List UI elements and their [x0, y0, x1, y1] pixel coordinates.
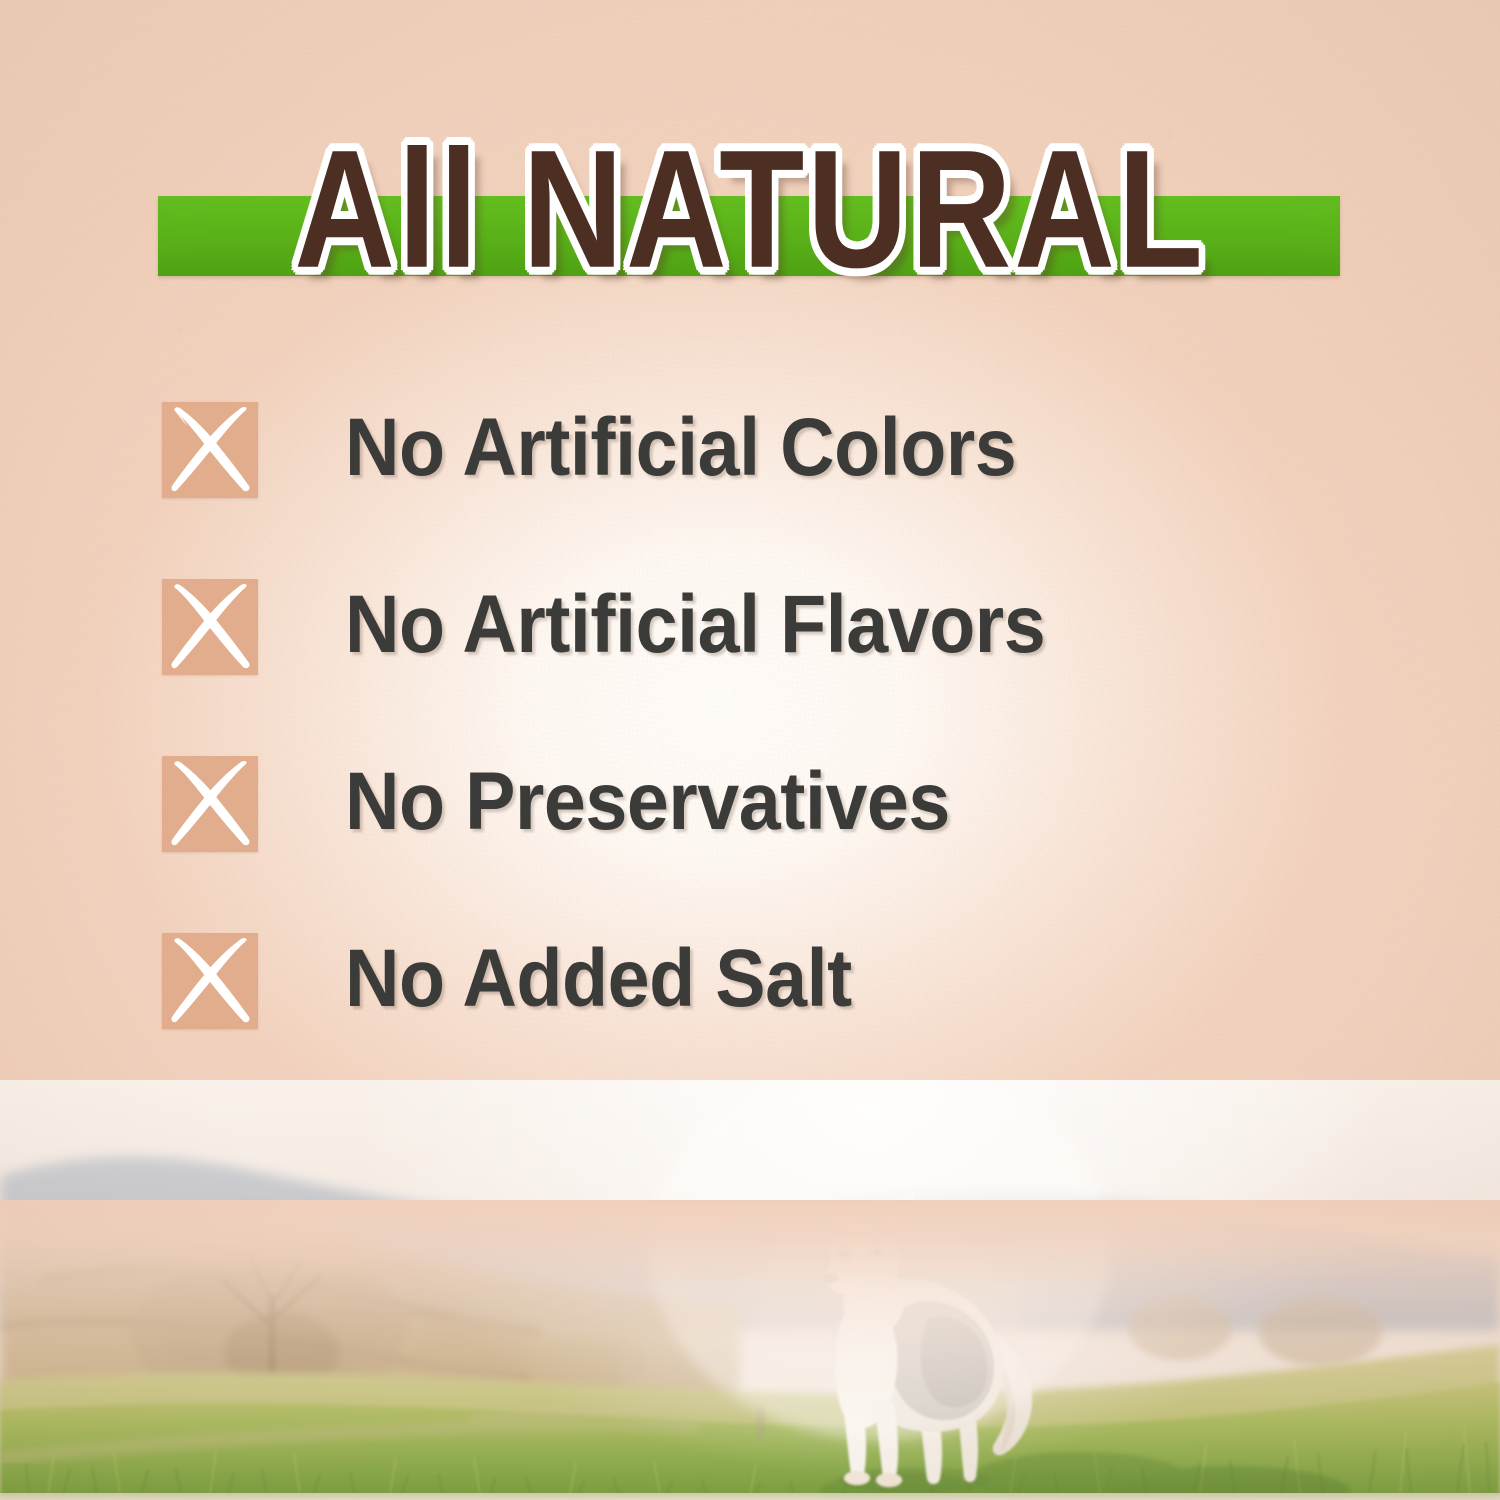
- list-item-label: No Preservatives: [345, 752, 950, 852]
- bottom-edge-strip: [0, 1493, 1500, 1500]
- list-item: No Artificial Flavors: [0, 549, 1500, 726]
- list-item: No Added Salt: [0, 903, 1500, 1080]
- list-item: No Artificial Colors: [0, 372, 1500, 549]
- poster-canvas: All NATURAL No Artificial Colors No Arti…: [0, 0, 1500, 1500]
- list-item-label: No Artificial Flavors: [345, 575, 1045, 675]
- landscape-dog-photo: [0, 1080, 1500, 1500]
- list-item-label: No Artificial Colors: [345, 398, 1016, 498]
- brush-stroke-x-icon: [162, 933, 258, 1029]
- feature-list: No Artificial Colors No Artificial Flavo…: [0, 372, 1500, 1080]
- list-item-label: No Added Salt: [345, 929, 852, 1029]
- brush-stroke-x-icon: [162, 402, 258, 498]
- title-banner: All NATURAL: [0, 118, 1500, 298]
- page-title: All NATURAL: [53, 110, 1448, 307]
- brush-stroke-x-icon: [162, 579, 258, 675]
- brush-stroke-x-icon: [162, 756, 258, 852]
- list-item: No Preservatives: [0, 726, 1500, 903]
